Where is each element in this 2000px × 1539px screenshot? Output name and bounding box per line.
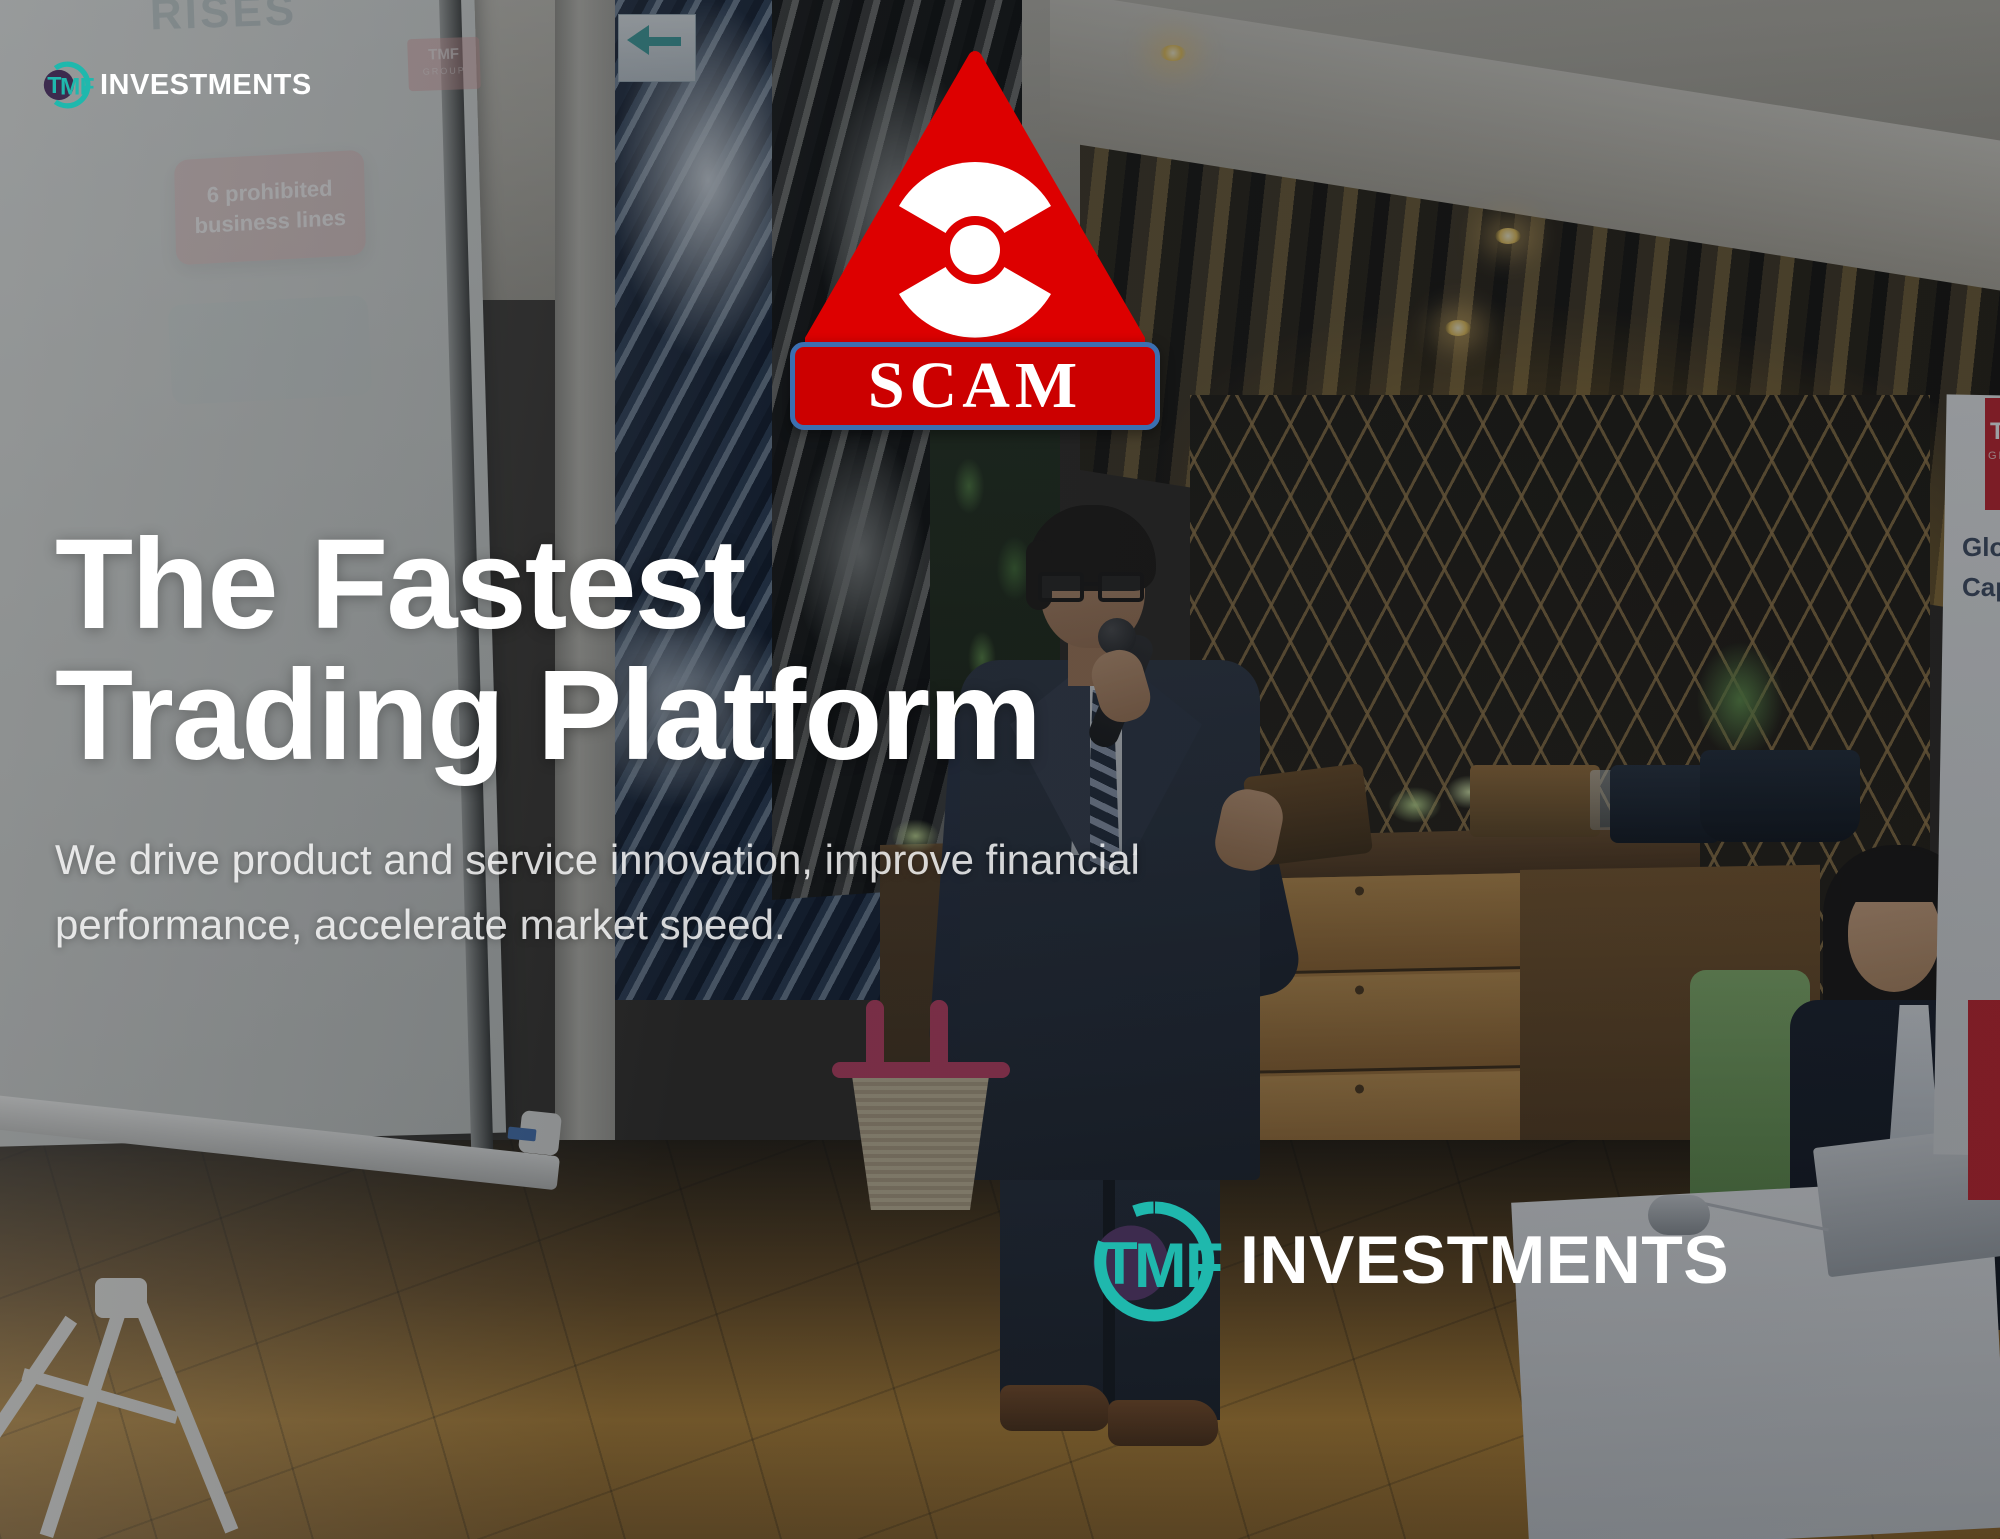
headline-line-1: The Fastest: [55, 513, 744, 656]
tmf-mark-icon: T M F: [1080, 1185, 1230, 1335]
svg-text:T: T: [1101, 1230, 1138, 1297]
brand-logo-bottom[interactable]: T M F INVESTMENTS: [1080, 1185, 1729, 1335]
brand-logo-top[interactable]: T M F INVESTMENTS: [38, 56, 312, 114]
svg-text:F: F: [1185, 1231, 1223, 1301]
svg-text:M: M: [1134, 1231, 1186, 1301]
page-title: The Fastest Trading Platform: [55, 520, 1355, 781]
svg-text:M: M: [60, 73, 80, 100]
headline-line-2: Trading Platform: [55, 644, 1040, 787]
brand-wordmark-top: INVESTMENTS: [100, 69, 312, 102]
scam-label-text: SCAM: [868, 353, 1082, 419]
tmf-mark-icon: T M F: [38, 56, 96, 114]
svg-text:F: F: [80, 73, 95, 100]
brand-wordmark-bottom: INVESTMENTS: [1240, 1221, 1729, 1299]
scam-warning-overlay: SCAM: [790, 50, 1160, 430]
scam-label-plate: SCAM: [790, 342, 1160, 430]
warning-triangle: [805, 50, 1145, 350]
hero-banner-screenshot: TMF GROUP Glob Capi RISES 6 prohibited b…: [0, 0, 2000, 1539]
hero-subtitle: We drive product and service innovation,…: [55, 827, 1215, 957]
hero-text-block: The Fastest Trading Platform We drive pr…: [55, 520, 1355, 957]
svg-text:T: T: [47, 72, 61, 98]
